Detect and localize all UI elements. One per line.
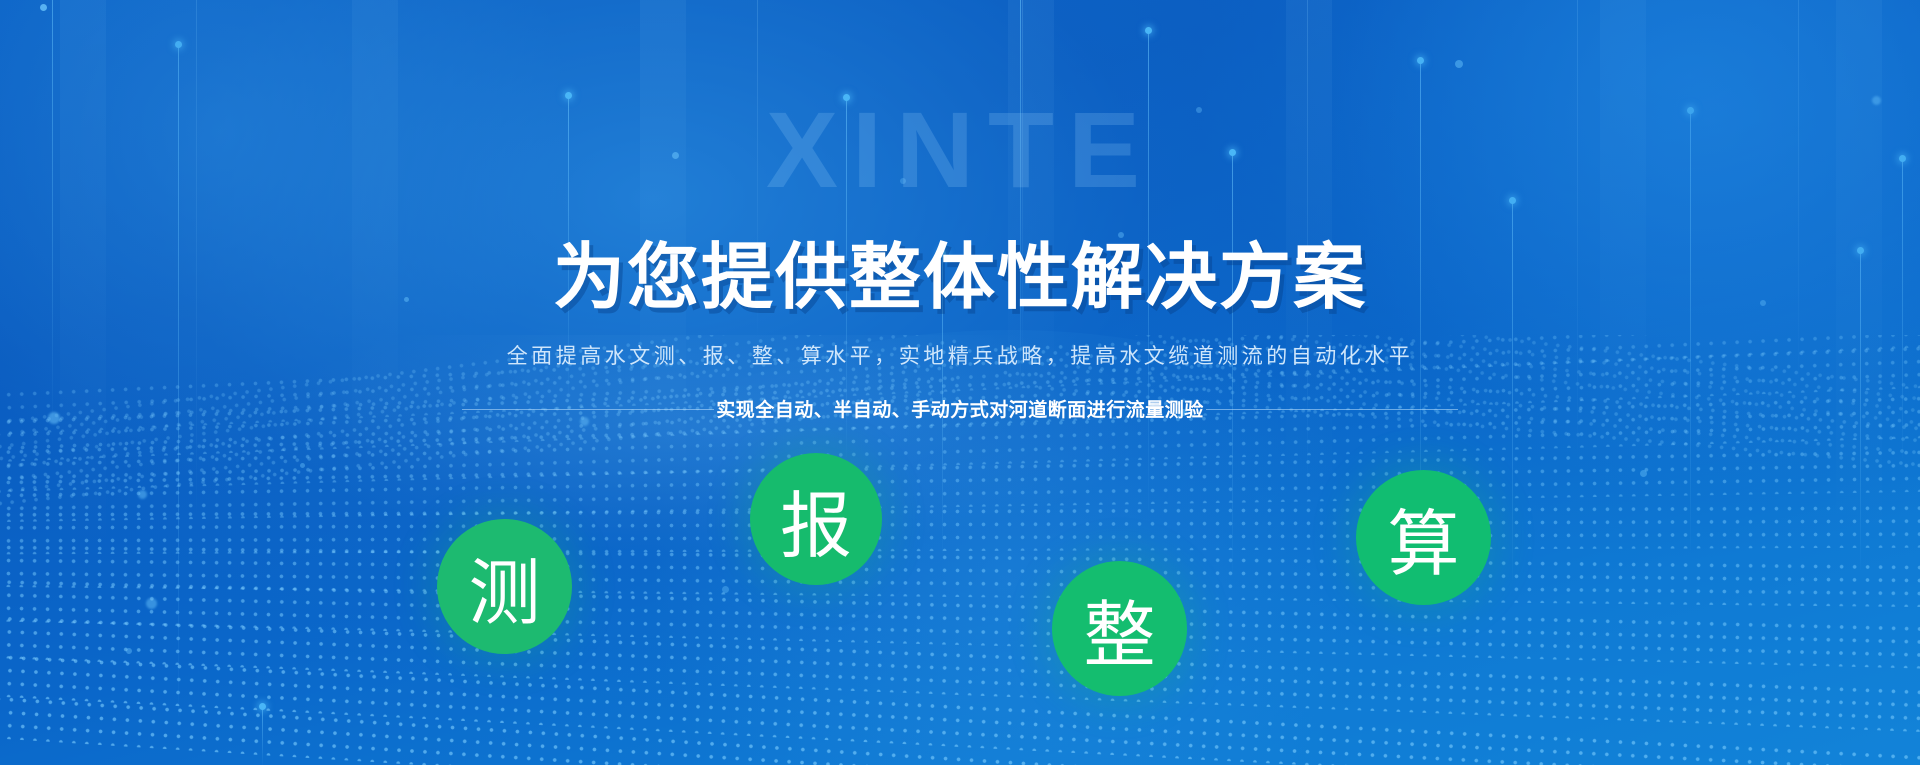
pillar-label-report: 报 bbox=[780, 467, 852, 572]
pillar-label-organize: 整 bbox=[1083, 576, 1155, 681]
hero-banner: XINTE 为您提供整体性解决方案 全面提高水文测、报、整、算水平，实地精兵战略… bbox=[0, 0, 1920, 765]
pillar-label-measure: 测 bbox=[468, 534, 540, 639]
bokeh-dot bbox=[40, 4, 47, 11]
tagline-text: 实现全自动、半自动、手动方式对河道断面进行流量测验 bbox=[714, 395, 1206, 422]
subtitle-text: 全面提高水文测、报、整、算水平，实地精兵战略，提高水文缆道测流的自动化水平 bbox=[0, 346, 1920, 367]
pillar-circle-organize[interactable]: 整 bbox=[1052, 561, 1187, 696]
pillar-circle-measure[interactable]: 测 bbox=[437, 519, 572, 654]
tagline-row: 实现全自动、半自动、手动方式对河道断面进行流量测验 bbox=[0, 396, 1920, 423]
pillar-circle-report[interactable]: 报 bbox=[750, 453, 882, 585]
bokeh-dot bbox=[1455, 60, 1463, 68]
pillar-circle-calculate[interactable]: 算 bbox=[1356, 470, 1491, 605]
tagline-rule-left bbox=[462, 409, 714, 410]
pillar-label-calculate: 算 bbox=[1387, 485, 1459, 590]
bokeh-dot bbox=[1118, 232, 1124, 238]
watermark-text: XINTE bbox=[0, 96, 1920, 204]
page-title: 为您提供整体性解决方案 bbox=[0, 242, 1920, 314]
tagline-rule-right bbox=[1206, 409, 1458, 410]
